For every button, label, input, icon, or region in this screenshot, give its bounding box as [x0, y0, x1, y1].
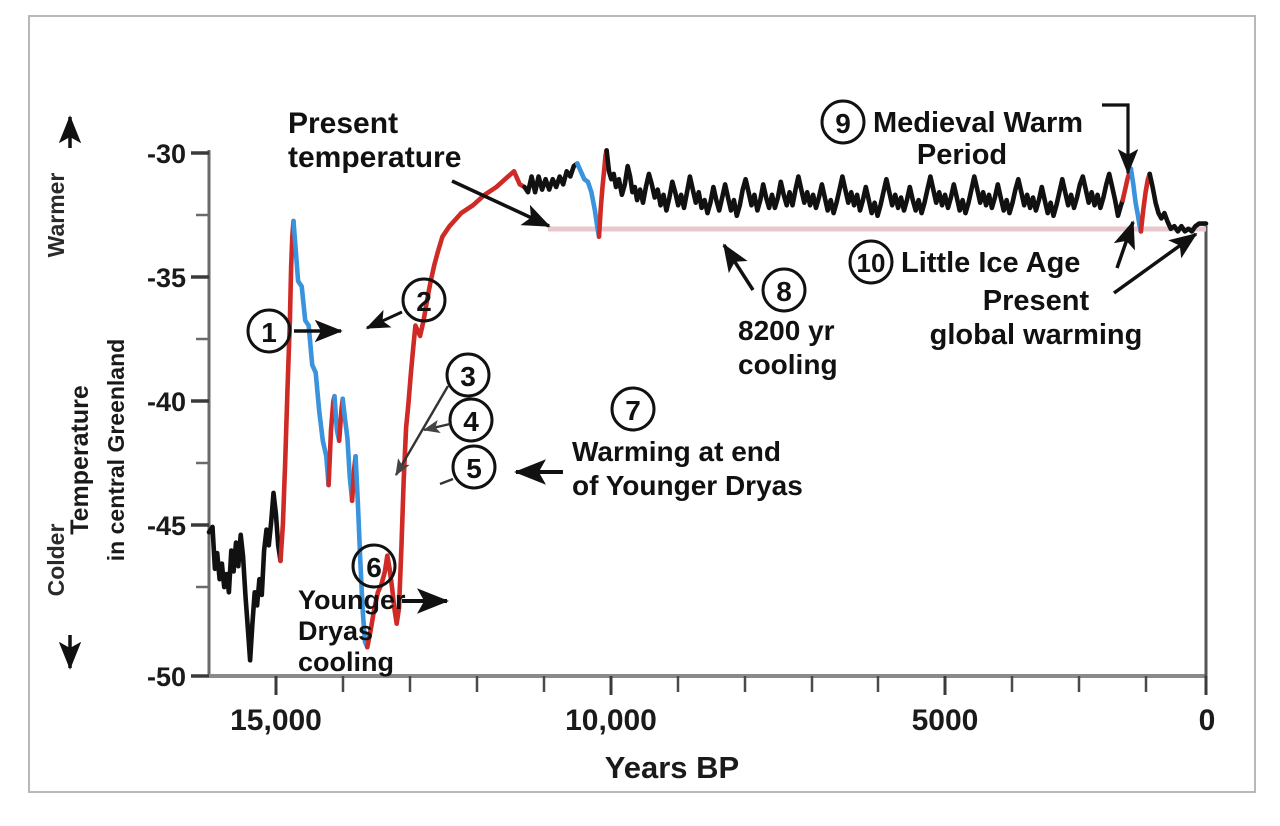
present-temperature-label-line2: temperature — [288, 141, 461, 174]
marker-4-label: 4 — [463, 406, 479, 437]
marker-8: 8 — [763, 269, 805, 311]
marker-5-label: 5 — [466, 453, 482, 484]
y-tick-label-4: -50 — [147, 662, 186, 692]
x-tick-label-2: 5000 — [912, 704, 979, 737]
marker-10: 10 — [850, 241, 892, 283]
marker-9: 9 — [822, 101, 864, 143]
x-tick-label-0: 15,000 — [230, 704, 322, 737]
curve-segment — [577, 164, 599, 237]
present-global-warming-line1: Present — [983, 285, 1090, 317]
present-temperature-label-line1: Present — [288, 107, 398, 140]
younger-dryas-cooling-line1: Younger — [298, 585, 406, 615]
marker-10-label: 10 — [857, 248, 886, 278]
curve-segment — [343, 399, 352, 501]
marker-2-label: 2 — [416, 286, 432, 317]
marker-6-label: 6 — [366, 552, 382, 583]
cooling-8200-line2: cooling — [738, 349, 838, 380]
y-axis-title-line2: in central Greenland — [103, 339, 129, 561]
marker-5: 5 — [440, 446, 495, 488]
x-axis-title: Years BP — [605, 750, 739, 785]
y-axis-title-line1: Temperature — [66, 385, 94, 535]
marker-9-label: 9 — [835, 108, 851, 139]
curve-segment — [294, 221, 329, 485]
y-tick-label-0: -30 — [147, 139, 186, 169]
marker-3-label: 3 — [460, 361, 476, 392]
marker-7-label: 7 — [625, 395, 641, 426]
y-axis-warmer-label: Warmer — [43, 173, 69, 258]
cooling-8200-arrow-icon — [724, 245, 753, 290]
x-tick-label-1: 10,000 — [565, 704, 657, 737]
curve-segment — [1150, 174, 1206, 232]
curve-segment — [525, 164, 578, 193]
marker-1-label: 1 — [261, 317, 277, 348]
chart-stage: -30 -35 -40 -45 -50 15,000 10,000 5000 0… — [0, 0, 1280, 826]
curve-segment — [599, 150, 607, 236]
marker-2: 2 — [367, 279, 445, 328]
little-ice-age-label: Little Ice Age — [901, 247, 1080, 279]
curve-segment — [209, 493, 281, 660]
marker-1: 1 — [248, 310, 341, 352]
curve-segment — [281, 221, 294, 561]
medieval-warm-period-bracket-icon — [1102, 105, 1128, 173]
y-tick-label-3: -45 — [147, 511, 186, 541]
present-global-warming-line2: global warming — [930, 319, 1143, 351]
marker-4: 4 — [424, 399, 492, 441]
marker-8-label: 8 — [776, 276, 792, 307]
marker-7: 7 — [612, 388, 654, 430]
x-tick-label-3: 0 — [1199, 704, 1216, 737]
y-tick-label-2: -40 — [147, 387, 186, 417]
younger-dryas-cooling-line3: cooling — [298, 647, 394, 677]
medieval-warm-period-line1: Medieval Warm — [873, 107, 1083, 139]
y-axis-colder-label: Colder — [43, 524, 69, 597]
curve-segment — [1141, 174, 1150, 232]
younger-dryas-cooling-line2: Dryas — [298, 616, 373, 646]
medieval-warm-period-line2: Period — [917, 139, 1007, 171]
cooling-8200-line1: 8200 yr — [738, 315, 835, 346]
warming-end-yd-line1: Warming at end — [572, 436, 781, 467]
curve-segment — [607, 150, 1123, 215]
warming-end-yd-line2: of Younger Dryas — [572, 470, 803, 501]
greenland-temperature-chart: -30 -35 -40 -45 -50 15,000 10,000 5000 0… — [0, 0, 1280, 826]
y-tick-label-1: -35 — [147, 263, 186, 293]
